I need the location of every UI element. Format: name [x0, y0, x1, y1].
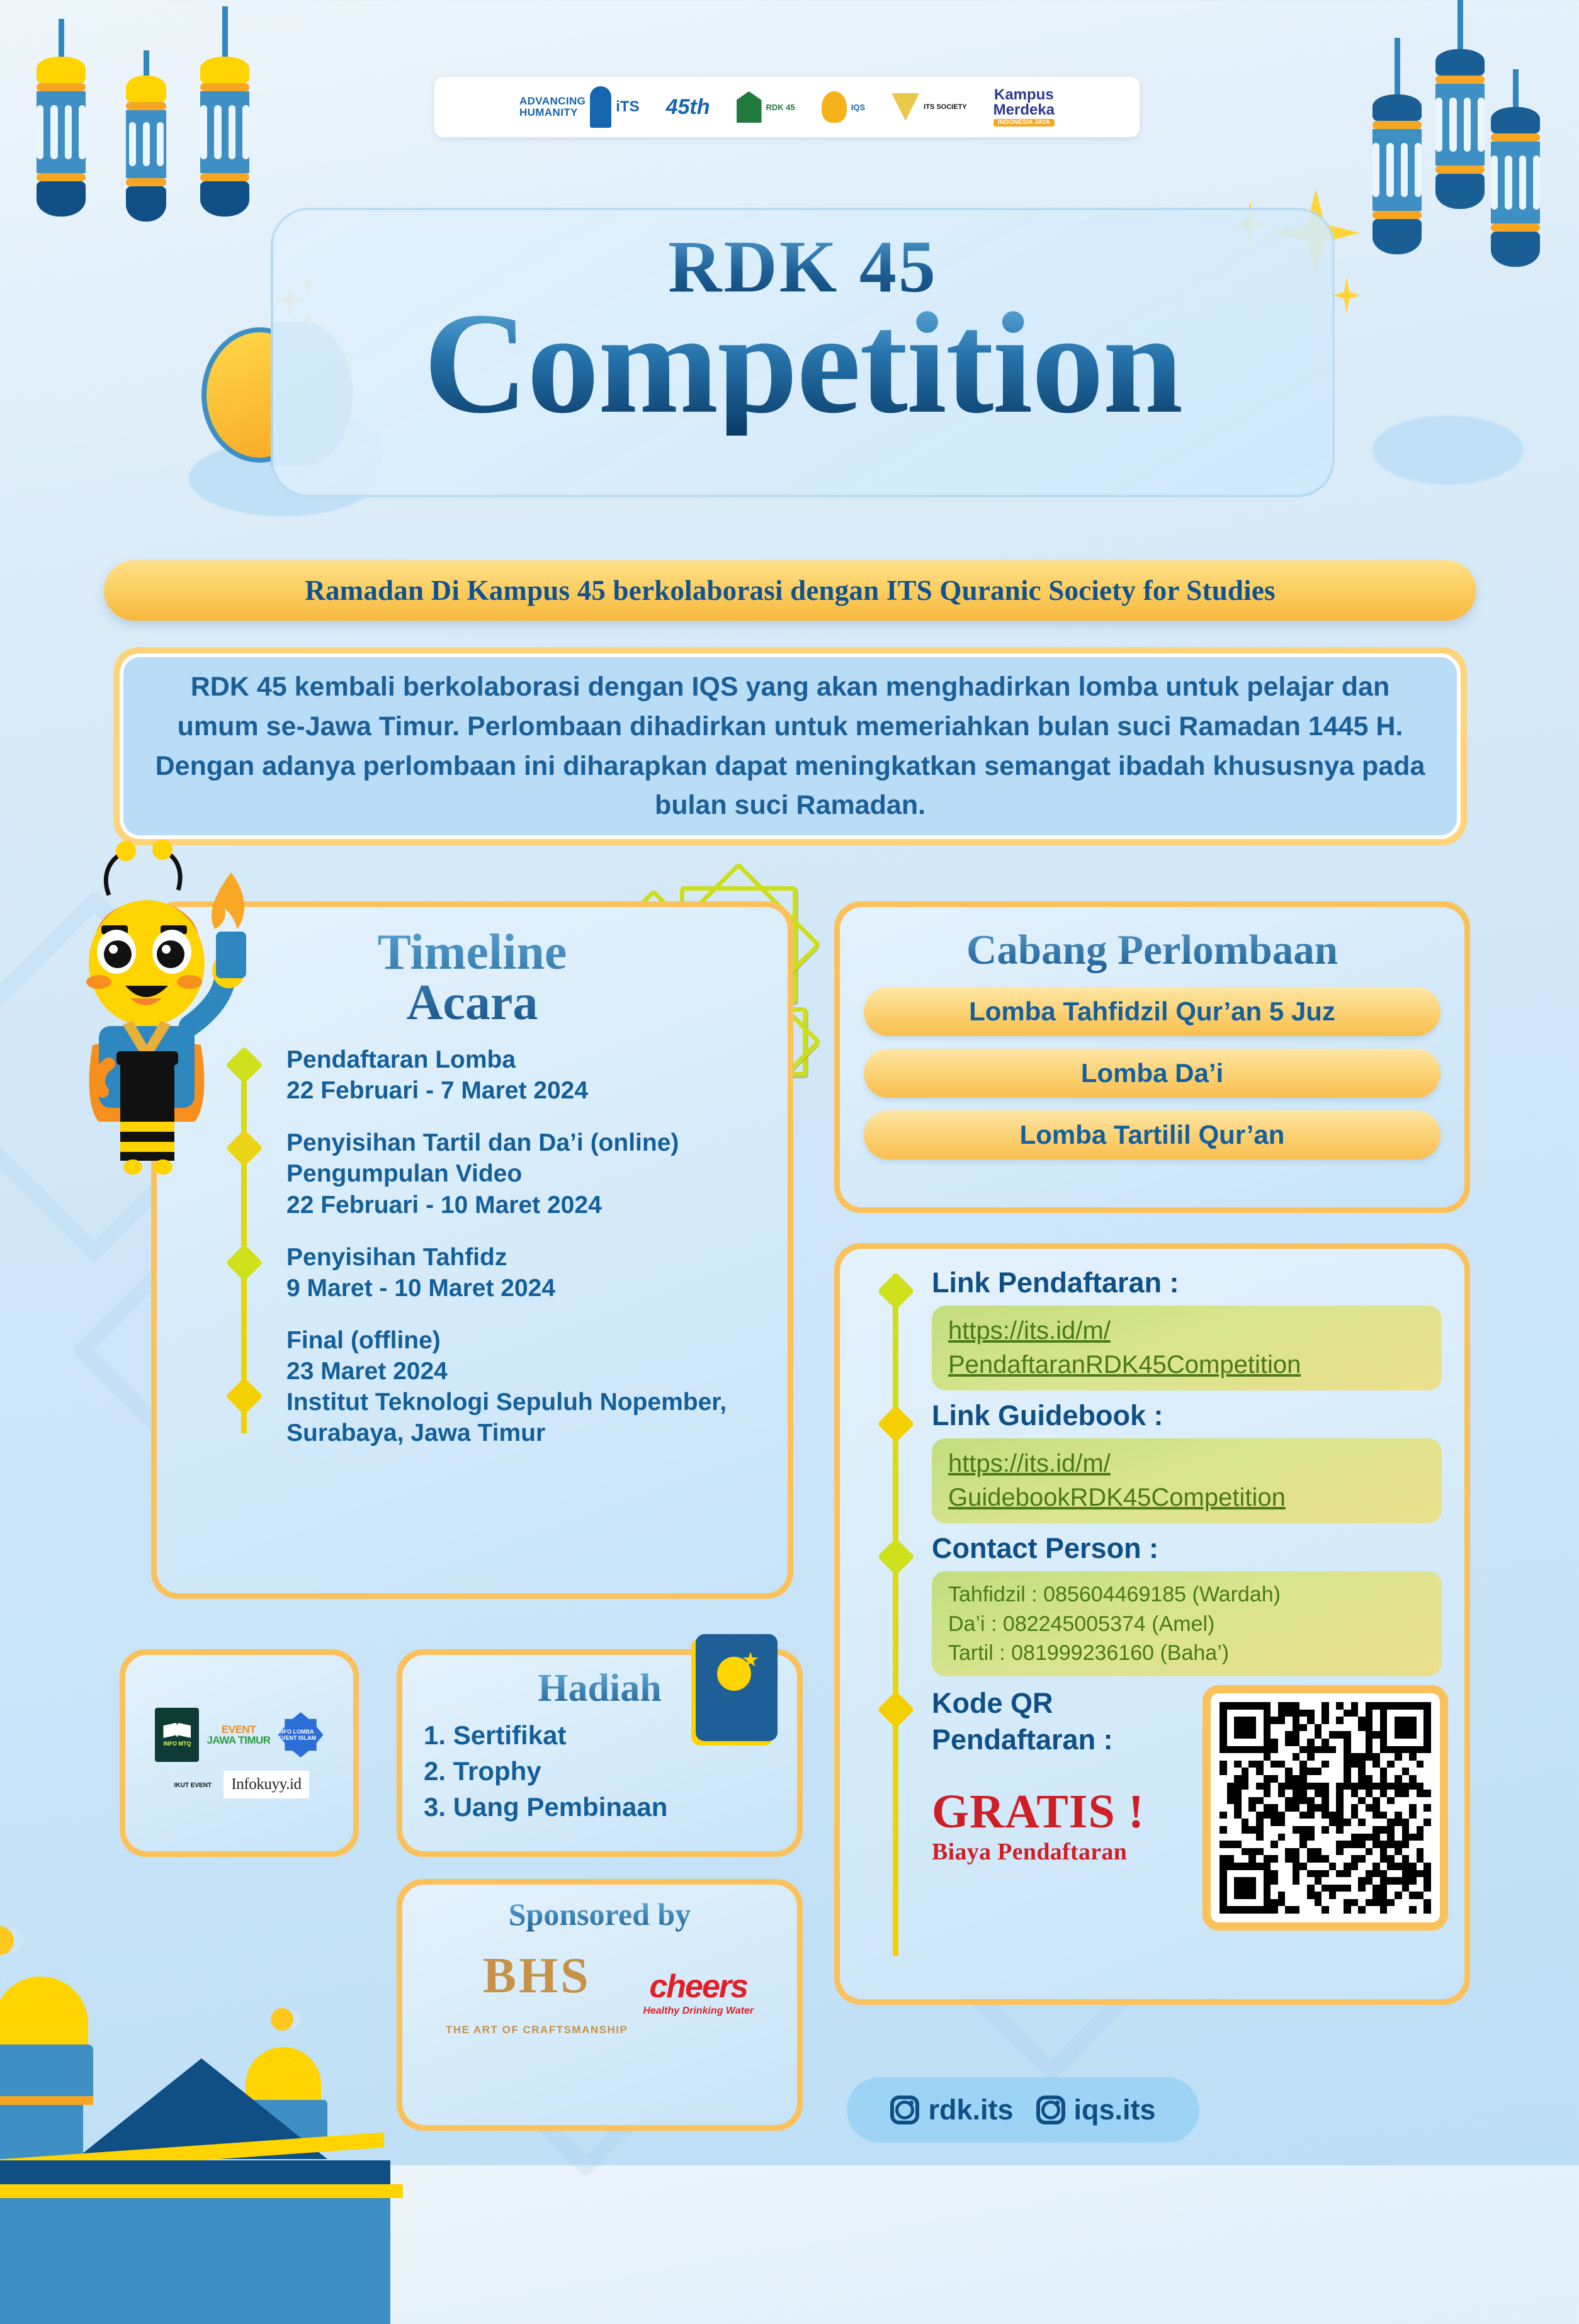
- contact-person-item: Contact Person : Tahfidzil : 08560446918…: [840, 1532, 1464, 1676]
- logo-rdk-45: RDK 45: [737, 91, 795, 123]
- logo-mark: INDONESIA JAYA: [993, 119, 1055, 127]
- open-book-icon: [163, 1723, 191, 1738]
- sponsor-wordmark: cheers: [643, 1968, 754, 2005]
- logo-mark: iTS: [616, 98, 639, 116]
- logo-its-45th: 45th: [666, 95, 710, 120]
- logo-line2: Merdeka: [993, 103, 1055, 118]
- hadiah-item: 3. Uang Pembinaan: [424, 1789, 776, 1825]
- sponsor-tagline: THE ART OF CRAFTSMANSHIP: [446, 2024, 628, 2036]
- timeline-marker-icon: [225, 1377, 263, 1414]
- qr-code-frame[interactable]: [1203, 1685, 1448, 1931]
- logo-line1: ADVANCING: [519, 96, 586, 107]
- social-links-bar: rdk.its iqs.its: [847, 2077, 1199, 2143]
- partner-logo-bar: ADVANCING HUMANITY iTS 45th RDK 45 IQS I…: [434, 77, 1140, 137]
- timeline-marker-icon: [225, 1244, 263, 1281]
- qr-marker-icon: [877, 1691, 914, 1728]
- link-pendaftaran-url-line2[interactable]: PendaftaranRDK45Competition: [948, 1348, 1425, 1382]
- iqs-flame-icon: [822, 91, 847, 123]
- timeline-heading-line2: Acara: [157, 978, 788, 1028]
- sponsor-heading: Sponsored by: [415, 1896, 784, 1932]
- media-partner-label: INFO MTQ: [163, 1740, 191, 1747]
- logo-line1: Kampus: [993, 87, 1055, 103]
- logo-its-society-quranic-studies: ITS SOCIETY: [891, 93, 966, 121]
- link-marker-icon: [877, 1405, 914, 1442]
- cabang-item[interactable]: Lomba Tahfidzil Qur’an 5 Juz: [864, 987, 1440, 1036]
- media-partner-logo-info-lomba-event-islam: INFO LOMBA EVENT ISLAM: [278, 1712, 324, 1757]
- cabang-item[interactable]: Lomba Tartilil Qur’an: [864, 1110, 1440, 1159]
- timeline-item: Penyisihan Tahfidz 9 Maret - 10 Maret 20…: [188, 1242, 788, 1304]
- logo-its-quranic-society: IQS: [822, 91, 865, 123]
- sponsor-wordmark: BHS: [446, 1948, 628, 2005]
- link-guidebook-box[interactable]: https://its.id/m/ GuidebookRDK45Competit…: [932, 1438, 1442, 1523]
- logo-mark: RDK 45: [766, 103, 795, 112]
- timeline-item-label: Penyisihan Tartil dan Da’i (online) Peng…: [286, 1129, 679, 1187]
- poster-title-line2: Competition: [273, 291, 1332, 436]
- its-shield-icon: [590, 86, 611, 128]
- link-guidebook-url-line1[interactable]: https://its.id/m/: [948, 1447, 1425, 1481]
- quran-book-icon: [696, 1634, 778, 1741]
- cabang-item-label: Lomba Tahfidzil Qur’an 5 Juz: [969, 996, 1335, 1027]
- cabang-item-label: Lomba Da’i: [1081, 1058, 1223, 1088]
- link-pendaftaran-label: Link Pendaftaran :: [932, 1266, 1442, 1299]
- gratis-line1: GRATIS !: [932, 1788, 1184, 1836]
- media-partner-label: Infokuyy.id: [231, 1776, 301, 1793]
- timeline-item-date: 23 Maret 2024 Institut Teknologi Sepuluh…: [286, 1358, 727, 1447]
- social-handle: rdk.its: [928, 2094, 1013, 2126]
- timeline-item: Final (offline) 23 Maret 2024 Institut T…: [188, 1325, 788, 1449]
- logo-kampus-merdeka: Kampus Merdeka INDONESIA JAYA: [993, 87, 1055, 127]
- qr-section: Kode QR Pendaftaran : GRATIS ! Biaya Pen…: [840, 1685, 1464, 1931]
- collaboration-ribbon: Ramadan Di Kampus 45 berkolaborasi denga…: [104, 560, 1476, 621]
- description-panel: RDK 45 kembali berkolaborasi dengan IQS …: [113, 647, 1467, 845]
- contact-entry: Da’i : 082245005374 (Amel): [948, 1610, 1425, 1639]
- link-pendaftaran-box[interactable]: https://its.id/m/ PendaftaranRDK45Compet…: [932, 1306, 1442, 1390]
- instagram-icon: [1036, 2096, 1065, 2124]
- rdk-emblem-icon: [737, 91, 762, 123]
- link-marker-icon: [877, 1272, 914, 1309]
- timeline-item-date: 9 Maret - 10 Maret 2024: [286, 1275, 555, 1302]
- contact-marker-icon: [877, 1538, 914, 1576]
- title-card: RDK 45 Competition: [271, 208, 1335, 497]
- book-icon: [891, 93, 919, 121]
- cabang-heading: Cabang Perlombaan: [840, 907, 1464, 974]
- cabang-item[interactable]: Lomba Da’i: [864, 1049, 1440, 1098]
- timeline-item-date: 22 Februari - 7 Maret 2024: [286, 1077, 588, 1104]
- media-partner-label-a: EVENT: [207, 1724, 270, 1735]
- sponsor-tagline: Healthy Drinking Water: [643, 2005, 754, 2017]
- timeline-item-label: Pendaftaran Lomba: [286, 1046, 516, 1073]
- link-guidebook-url-line2[interactable]: GuidebookRDK45Competition: [948, 1481, 1425, 1515]
- timeline-item: Pendaftaran Lomba 22 Februari - 7 Maret …: [188, 1044, 788, 1106]
- logo-line2: HUMANITY: [519, 107, 586, 118]
- contact-person-box: Tahfidzil : 085604469185 (Wardah) Da’i :…: [932, 1571, 1442, 1676]
- ribbon-text: Ramadan Di Kampus 45 berkolaborasi denga…: [305, 574, 1275, 607]
- cabang-perlombaan-panel: Cabang Perlombaan Lomba Tahfidzil Qur’an…: [834, 901, 1470, 1213]
- media-partners-panel: INFO MTQ EVENT JAWA TIMUR INFO LOMBA EVE…: [120, 1649, 359, 1857]
- logo-mark: IQS: [851, 103, 865, 112]
- timeline-item-label: Final (offline): [286, 1327, 441, 1354]
- timeline-heading-line1: Timeline: [157, 927, 788, 978]
- sponsor-logo-bhs: BHS THE ART OF CRAFTSMANSHIP: [446, 1948, 628, 2036]
- hadiah-item: 2. Trophy: [424, 1753, 776, 1789]
- media-partner-label: IKUT EVENT: [174, 1782, 212, 1789]
- instagram-icon: [890, 2096, 919, 2124]
- timeline-item: Penyisihan Tartil dan Da’i (online) Peng…: [188, 1127, 788, 1220]
- logo-mark: 45th: [666, 95, 710, 120]
- logo-advancing-humanity-its: ADVANCING HUMANITY iTS: [519, 86, 640, 128]
- sponsor-logo-cheers: cheers Healthy Drinking Water: [643, 1968, 754, 2017]
- media-partner-label-b: JAWA TIMUR: [207, 1735, 270, 1746]
- contact-entry: Tartil : 081999236160 (Baha’): [948, 1639, 1425, 1667]
- social-link-iqs-its[interactable]: iqs.its: [1036, 2094, 1156, 2126]
- gratis-line2: Biaya Pendaftaran: [932, 1838, 1184, 1866]
- timeline-item-label: Penyisihan Tahfidz: [286, 1244, 507, 1271]
- description-text: RDK 45 kembali berkolaborasi dengan IQS …: [154, 667, 1427, 825]
- qr-label-line1: Kode QR: [932, 1685, 1184, 1722]
- cabang-item-label: Lomba Tartilil Qur’an: [1020, 1120, 1285, 1150]
- sponsor-panel: Sponsored by BHS THE ART OF CRAFTSMANSHI…: [397, 1879, 803, 2131]
- bee-mascot-illustration: [60, 837, 249, 1177]
- qr-code-image[interactable]: [1220, 1702, 1431, 1914]
- qr-label-line2: Pendaftaran :: [932, 1722, 1184, 1758]
- social-handle: iqs.its: [1074, 2094, 1156, 2126]
- contact-entry: Tahfidzil : 085604469185 (Wardah): [948, 1580, 1425, 1609]
- timeline-heading: Timeline Acara: [157, 907, 788, 1028]
- media-partner-label: INFO LOMBA EVENT ISLAM: [278, 1729, 324, 1741]
- gratis-badge: GRATIS ! Biaya Pendaftaran: [932, 1788, 1184, 1866]
- link-pendaftaran-url-line1[interactable]: https://its.id/m/: [948, 1314, 1425, 1348]
- media-partner-logo-event-jawa-timur: EVENT JAWA TIMUR: [207, 1724, 270, 1746]
- link-guidebook-label: Link Guidebook :: [932, 1399, 1442, 1432]
- media-partner-logo-ikut-event: IKUT EVENT: [169, 1779, 216, 1790]
- link-guidebook-item: Link Guidebook : https://its.id/m/ Guide…: [840, 1399, 1464, 1523]
- media-partner-logo-info-mtq: INFO MTQ: [155, 1708, 199, 1762]
- contact-person-label: Contact Person :: [932, 1532, 1442, 1565]
- social-link-rdk-its[interactable]: rdk.its: [890, 2094, 1013, 2126]
- logo-mark: ITS SOCIETY: [924, 103, 966, 111]
- links-contact-panel: Link Pendaftaran : https://its.id/m/ Pen…: [834, 1243, 1470, 2005]
- media-partner-logo-infokuyy: Infokuyy.id: [224, 1771, 308, 1798]
- link-pendaftaran-item: Link Pendaftaran : https://its.id/m/ Pen…: [840, 1266, 1464, 1390]
- timeline-item-date: 22 Februari - 10 Maret 2024: [286, 1192, 602, 1219]
